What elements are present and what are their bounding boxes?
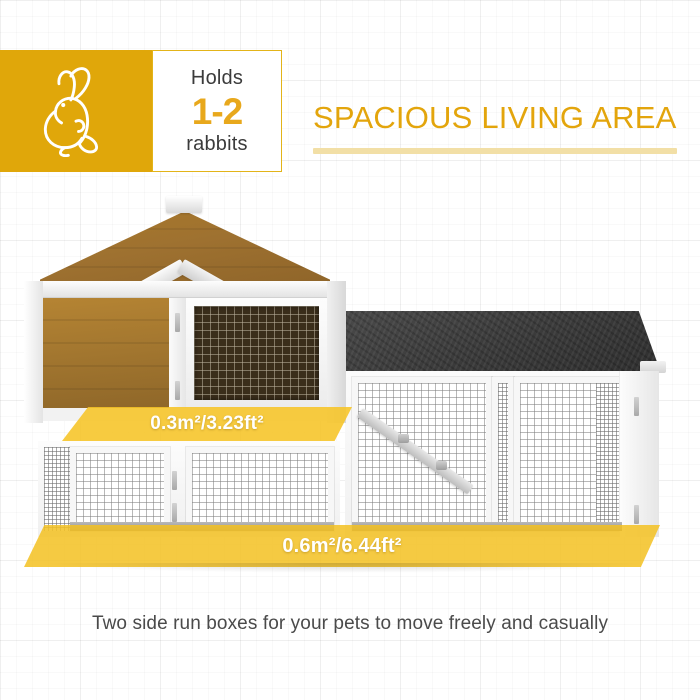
header-banner: Holds 1-2 rabbits SPACIOUS LIVING AREA [0,50,700,172]
hutch-top-beam [24,281,346,298]
rabbit-icon [33,65,119,157]
right-door-hinge-top [634,397,639,416]
ramp-rung-2 [436,461,447,470]
hutch-post-left [24,281,43,423]
hutch-door-hinge-top [175,313,180,332]
hutch-wood-door[interactable] [43,298,169,408]
capacity-count: 1-2 [192,93,242,130]
ground-shadow [40,563,650,573]
product-illustration: 0.3m²/3.23ft² 0.6m²/6.44ft² [0,185,700,595]
headline-block: SPACIOUS LIVING AREA [311,50,691,172]
upper-area-label: 0.3m²/3.23ft² [62,407,352,441]
ramp-rung-1 [398,434,409,443]
left-run-mesh-panel-1 [70,447,170,531]
hutch-door-hinge-bottom [175,381,180,400]
rabbit-badge [0,50,152,172]
right-run-mesh-side [596,383,620,529]
capacity-box: Holds 1-2 rabbits [152,50,282,172]
right-door-hinge-bottom [634,505,639,524]
right-run-mesh-corner [492,377,514,531]
right-run-end-panel [619,371,659,537]
hutch-mesh-door[interactable] [186,298,327,408]
left-run-hinge-bottom [172,503,177,522]
hutch-post-right [327,281,346,423]
lower-area-label: 0.6m²/6.44ft² [24,525,660,567]
caption-text: Two side run boxes for your pets to move… [0,613,700,635]
roof-ridge-cap [166,196,202,213]
left-run-mesh-panel-2 [186,447,334,531]
page-title: SPACIOUS LIVING AREA [313,100,676,136]
right-run-roof [343,311,661,373]
capacity-prefix: Holds [191,68,243,88]
headline-underline [313,148,677,154]
left-run-mesh-side [44,447,70,531]
hutch-mesh-door-screen [194,306,319,400]
capacity-unit: rabbits [186,134,247,154]
gable-wood-panel [40,211,330,289]
left-run-hinge-top [172,471,177,490]
